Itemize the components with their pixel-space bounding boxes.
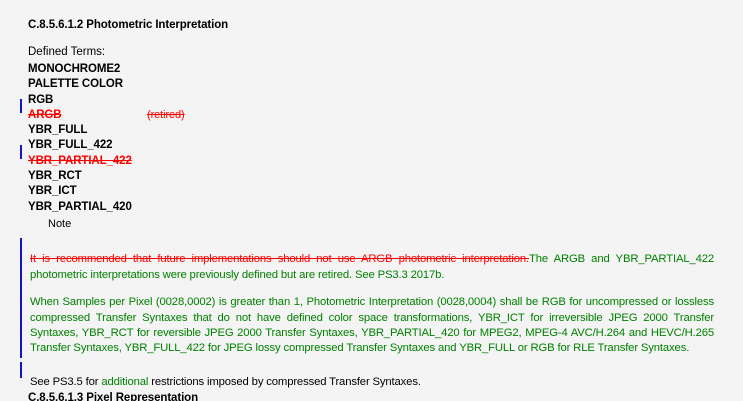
ps35-suffix: restrictions imposed by compressed Trans… [148, 376, 421, 388]
change-bar-note-and-paragraph [20, 238, 22, 358]
next-section-heading: C.8.5.6.1.3 Pixel Representation [28, 392, 198, 401]
ps35-paragraph: See PS3.5 for additional restrictions im… [30, 375, 714, 390]
note-paragraph: It is recommended that future implementa… [30, 252, 714, 283]
term-name: YBR_PARTIAL_422 [28, 155, 132, 167]
term-row: RGB [28, 94, 628, 109]
term-row: MONOCHROME2 [28, 63, 628, 78]
term-row: YBR_RCT [28, 170, 628, 185]
term-name: PALETTE COLOR [28, 78, 123, 90]
term-row: PALETTE COLOR [28, 78, 628, 93]
change-bar-argb [20, 99, 22, 113]
term-name: YBR_FULL_422 [28, 139, 112, 151]
defined-terms-label: Defined Terms: [28, 46, 105, 58]
page-title: C.8.5.6.1.2 Photometric Interpretation [28, 19, 228, 31]
term-row: YBR_PARTIAL_420 [28, 201, 628, 216]
term-name: YBR_RCT [28, 170, 82, 182]
term-name: YBR_PARTIAL_420 [28, 201, 132, 213]
term-row: YBR_FULL [28, 124, 628, 139]
change-bar-ybr-partial-422 [20, 145, 22, 159]
note-deleted-text: It is recommended that future implementa… [30, 253, 529, 265]
defined-terms-list: MONOCHROME2 PALETTE COLOR RGB ARGB (reti… [28, 63, 628, 216]
ps35-prefix: See PS3.5 for [30, 376, 101, 388]
term-row: YBR_ICT [28, 185, 628, 200]
term-name: RGB [28, 94, 53, 106]
term-row-deleted-argb: ARGB (retired) [28, 109, 628, 124]
note-label: Note [48, 218, 71, 230]
term-name: YBR_FULL [28, 124, 87, 136]
term-annotation: (retired) [147, 109, 185, 121]
change-bar-ps35 [20, 362, 22, 378]
document-page: C.8.5.6.1.2 Photometric Interpretation D… [0, 0, 743, 401]
ps35-inserted-word: additional [101, 376, 148, 388]
term-name: YBR_ICT [28, 185, 77, 197]
term-row-deleted-ybr-partial-422: YBR_PARTIAL_422 [28, 155, 628, 170]
term-row: YBR_FULL_422 [28, 139, 628, 154]
term-name: MONOCHROME2 [28, 63, 120, 75]
term-name: ARGB [28, 109, 61, 121]
samples-per-pixel-paragraph: When Samples per Pixel (0028,0002) is gr… [30, 295, 714, 356]
